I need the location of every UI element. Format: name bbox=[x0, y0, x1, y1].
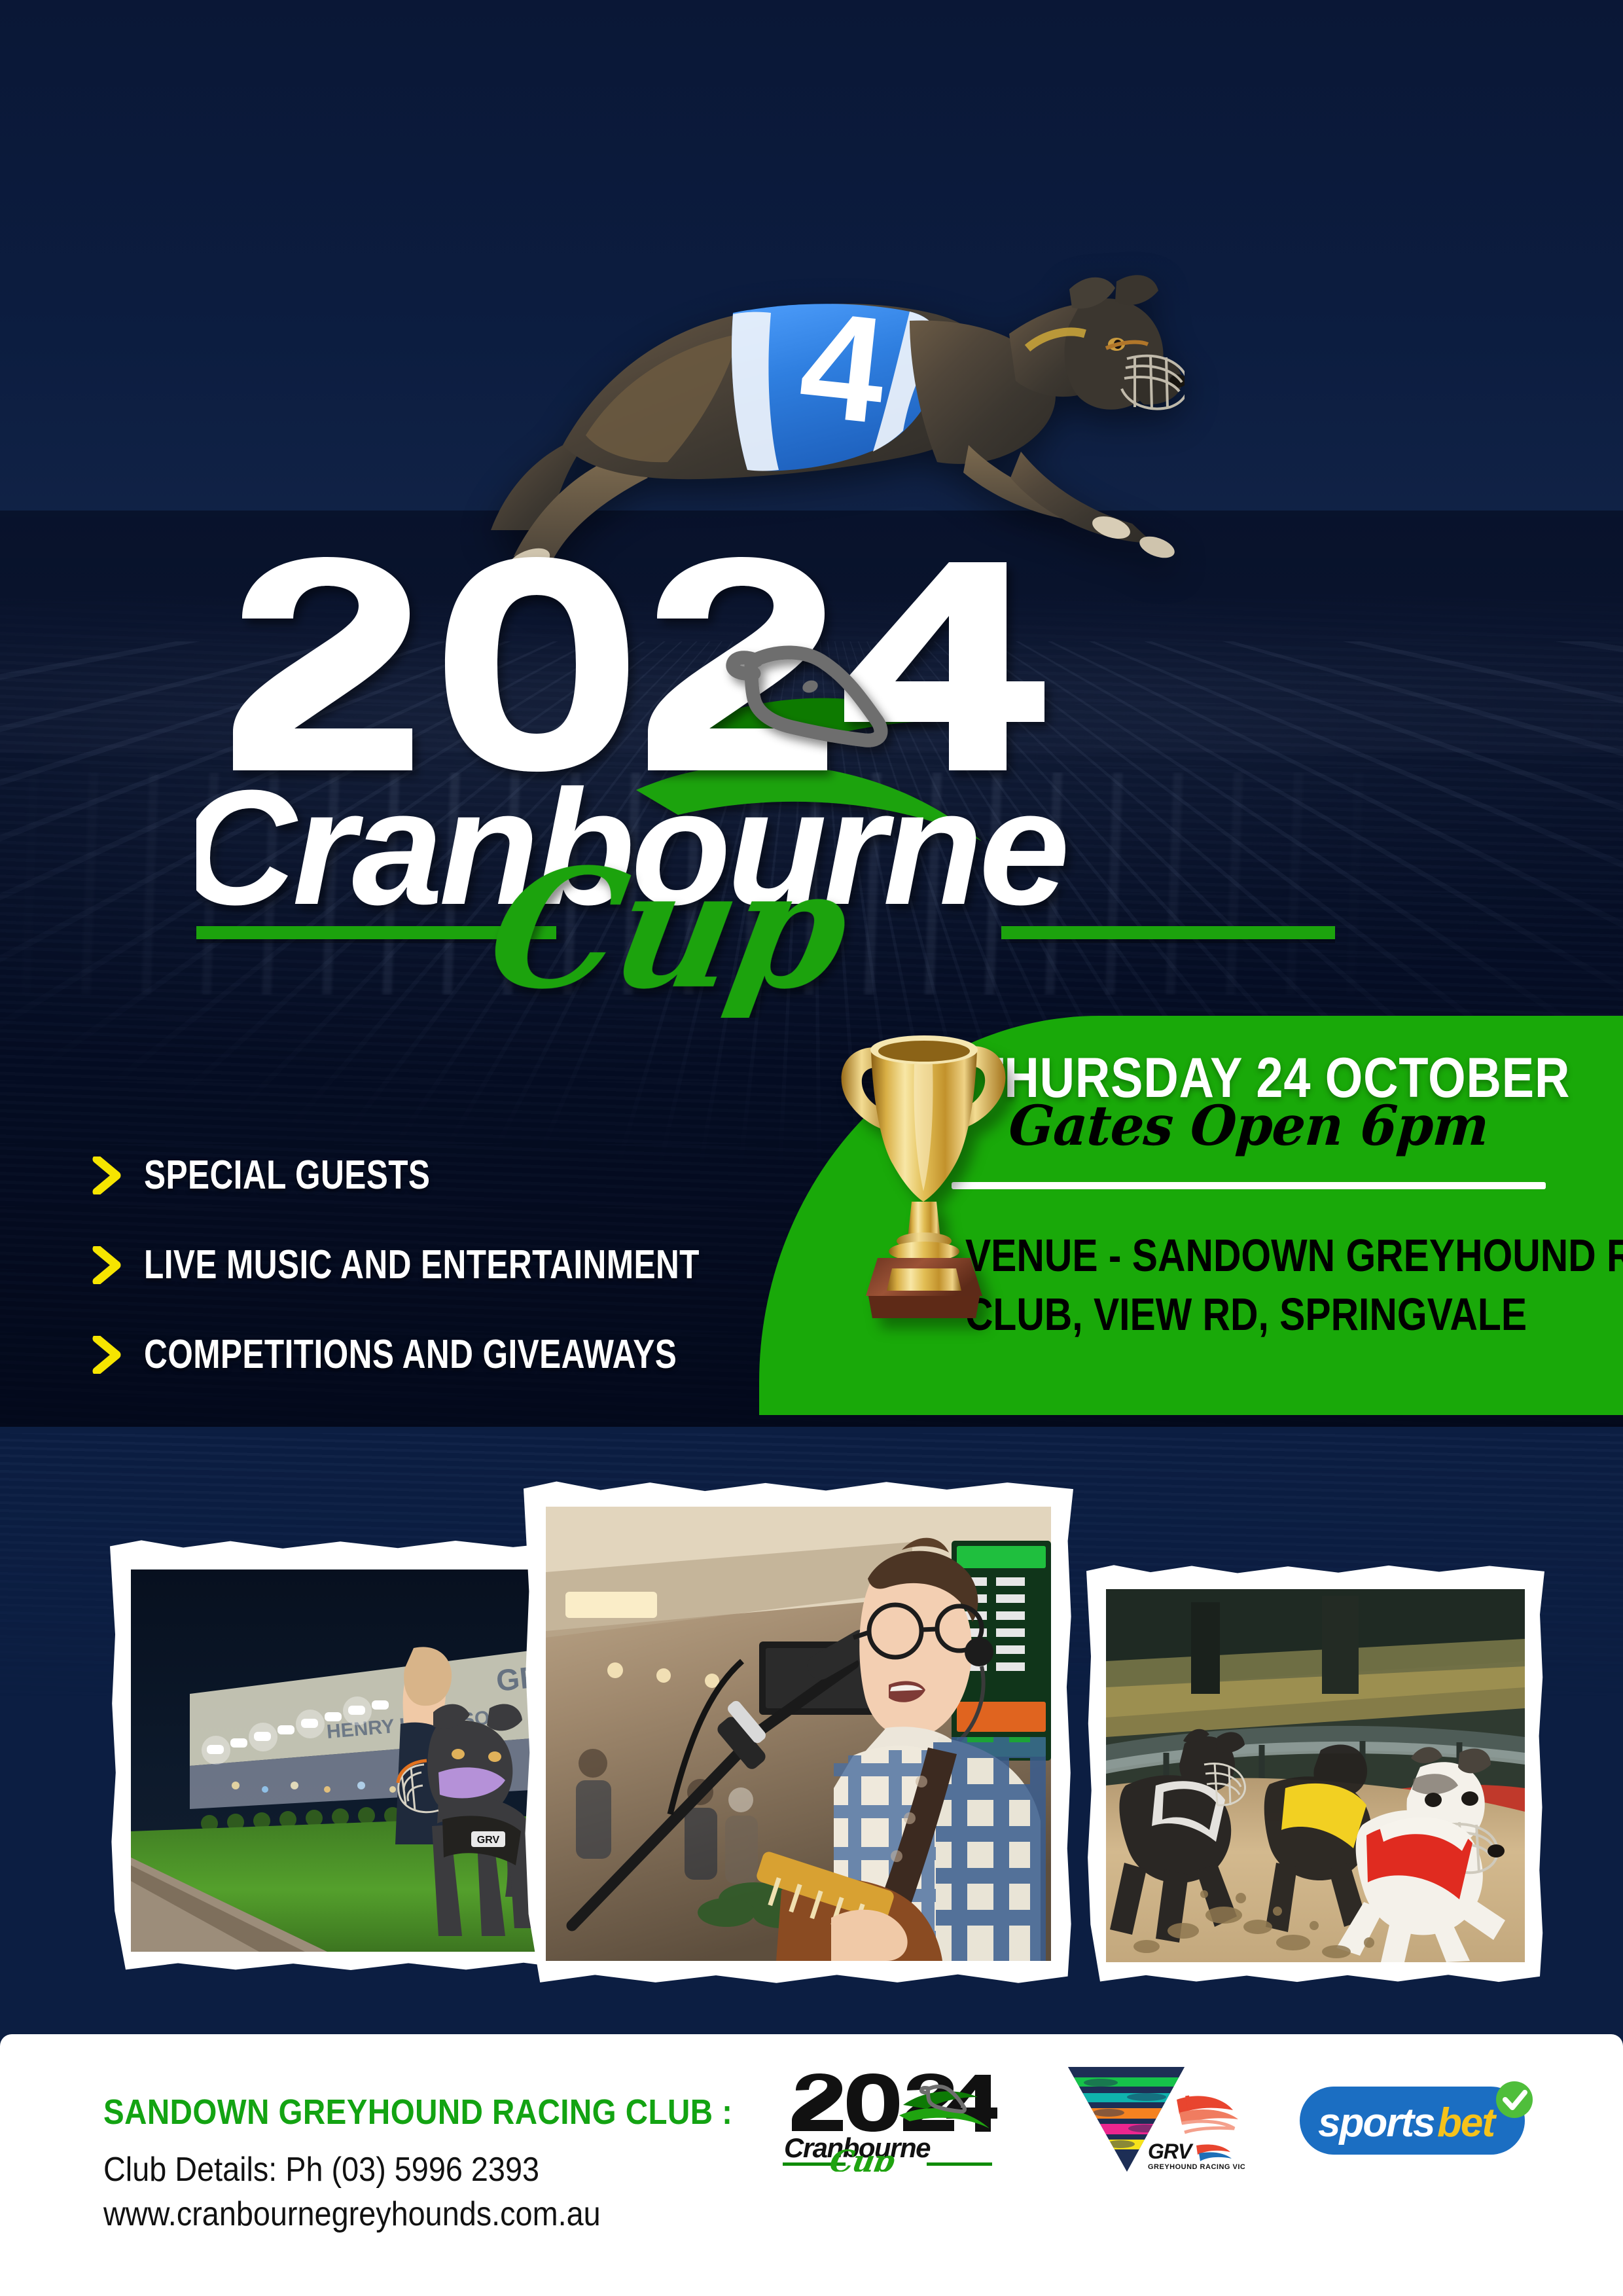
grv-logo: GRV GREYHOUND RACING VICTORIA bbox=[1048, 2063, 1245, 2179]
cranbourne-cup-logo: Cranbourne Cup 2024 Cranbourne Cup bbox=[196, 533, 1335, 1018]
svg-text:4: 4 bbox=[793, 279, 893, 455]
footer-website[interactable]: www.cranbournegreyhounds.com.au bbox=[103, 2193, 747, 2237]
gates-open-time: Gates Open 6pm bbox=[940, 1093, 1558, 1158]
list-item: COMPETITIONS AND GIVEAWAYS bbox=[92, 1331, 785, 1378]
chevron-right-icon bbox=[92, 1246, 122, 1284]
svg-text:Cup: Cup bbox=[827, 2143, 897, 2172]
footer-club-heading: SANDOWN GREYHOUND RACING CLUB : bbox=[103, 2092, 732, 2132]
footer-sponsor-logos: Cranbourne Cup Cranbourne bbox=[781, 2063, 1538, 2179]
venue-line-2: CLUB, VIEW RD, SPRINGVALE bbox=[965, 1285, 1522, 1344]
photo-card-live-musician bbox=[524, 1480, 1073, 1984]
list-item: LIVE MUSIC AND ENTERTAINMENT bbox=[92, 1242, 785, 1288]
chevron-right-icon bbox=[92, 1157, 122, 1194]
footer-contact-block: SANDOWN GREYHOUND RACING CLUB : Club Det… bbox=[103, 2092, 818, 2236]
panel-divider bbox=[952, 1182, 1546, 1189]
footer-phone: Club Details: Ph (03) 5996 2393 bbox=[103, 2148, 747, 2193]
cranbourne-cup-logo-footer: Cranbourne Cup Cranbourne bbox=[781, 2067, 997, 2175]
feature-list: SPECIAL GUESTS LIVE MUSIC AND ENTERTAINM… bbox=[92, 1152, 785, 1378]
svg-text:sports: sports bbox=[1318, 2100, 1435, 2145]
photo-gallery: HENRY HARRISON GRA bbox=[0, 1466, 1623, 2009]
poster-root: 4 bbox=[0, 0, 1623, 2296]
photo-card-greyhound-race bbox=[1086, 1564, 1544, 1983]
gold-trophy-icon bbox=[815, 1008, 1031, 1335]
feature-label-2: LIVE MUSIC AND ENTERTAINMENT bbox=[144, 1242, 700, 1288]
svg-text:GRV: GRV bbox=[1148, 2140, 1194, 2163]
feature-label-3: COMPETITIONS AND GIVEAWAYS bbox=[144, 1331, 677, 1378]
svg-text:Cup: Cup bbox=[476, 833, 861, 1018]
svg-text:bet: bet bbox=[1437, 2100, 1497, 2145]
chevron-right-icon bbox=[92, 1336, 122, 1374]
feature-label-1: SPECIAL GUESTS bbox=[144, 1152, 430, 1198]
hero-greyhound-image: 4 bbox=[452, 137, 1185, 589]
venue-address: VENUE - SANDOWN GREYHOUND RACING CLUB, V… bbox=[965, 1227, 1522, 1344]
venue-line-1: VENUE - SANDOWN GREYHOUND RACING bbox=[965, 1227, 1522, 1285]
sportsbet-logo: sports bet bbox=[1296, 2076, 1538, 2166]
svg-text:GREYHOUND RACING VICTORIA: GREYHOUND RACING VICTORIA bbox=[1148, 2163, 1245, 2171]
footer: SANDOWN GREYHOUND RACING CLUB : Club Det… bbox=[0, 2034, 1623, 2296]
svg-text:GRV: GRV bbox=[477, 1835, 500, 1846]
list-item: SPECIAL GUESTS bbox=[92, 1152, 785, 1198]
